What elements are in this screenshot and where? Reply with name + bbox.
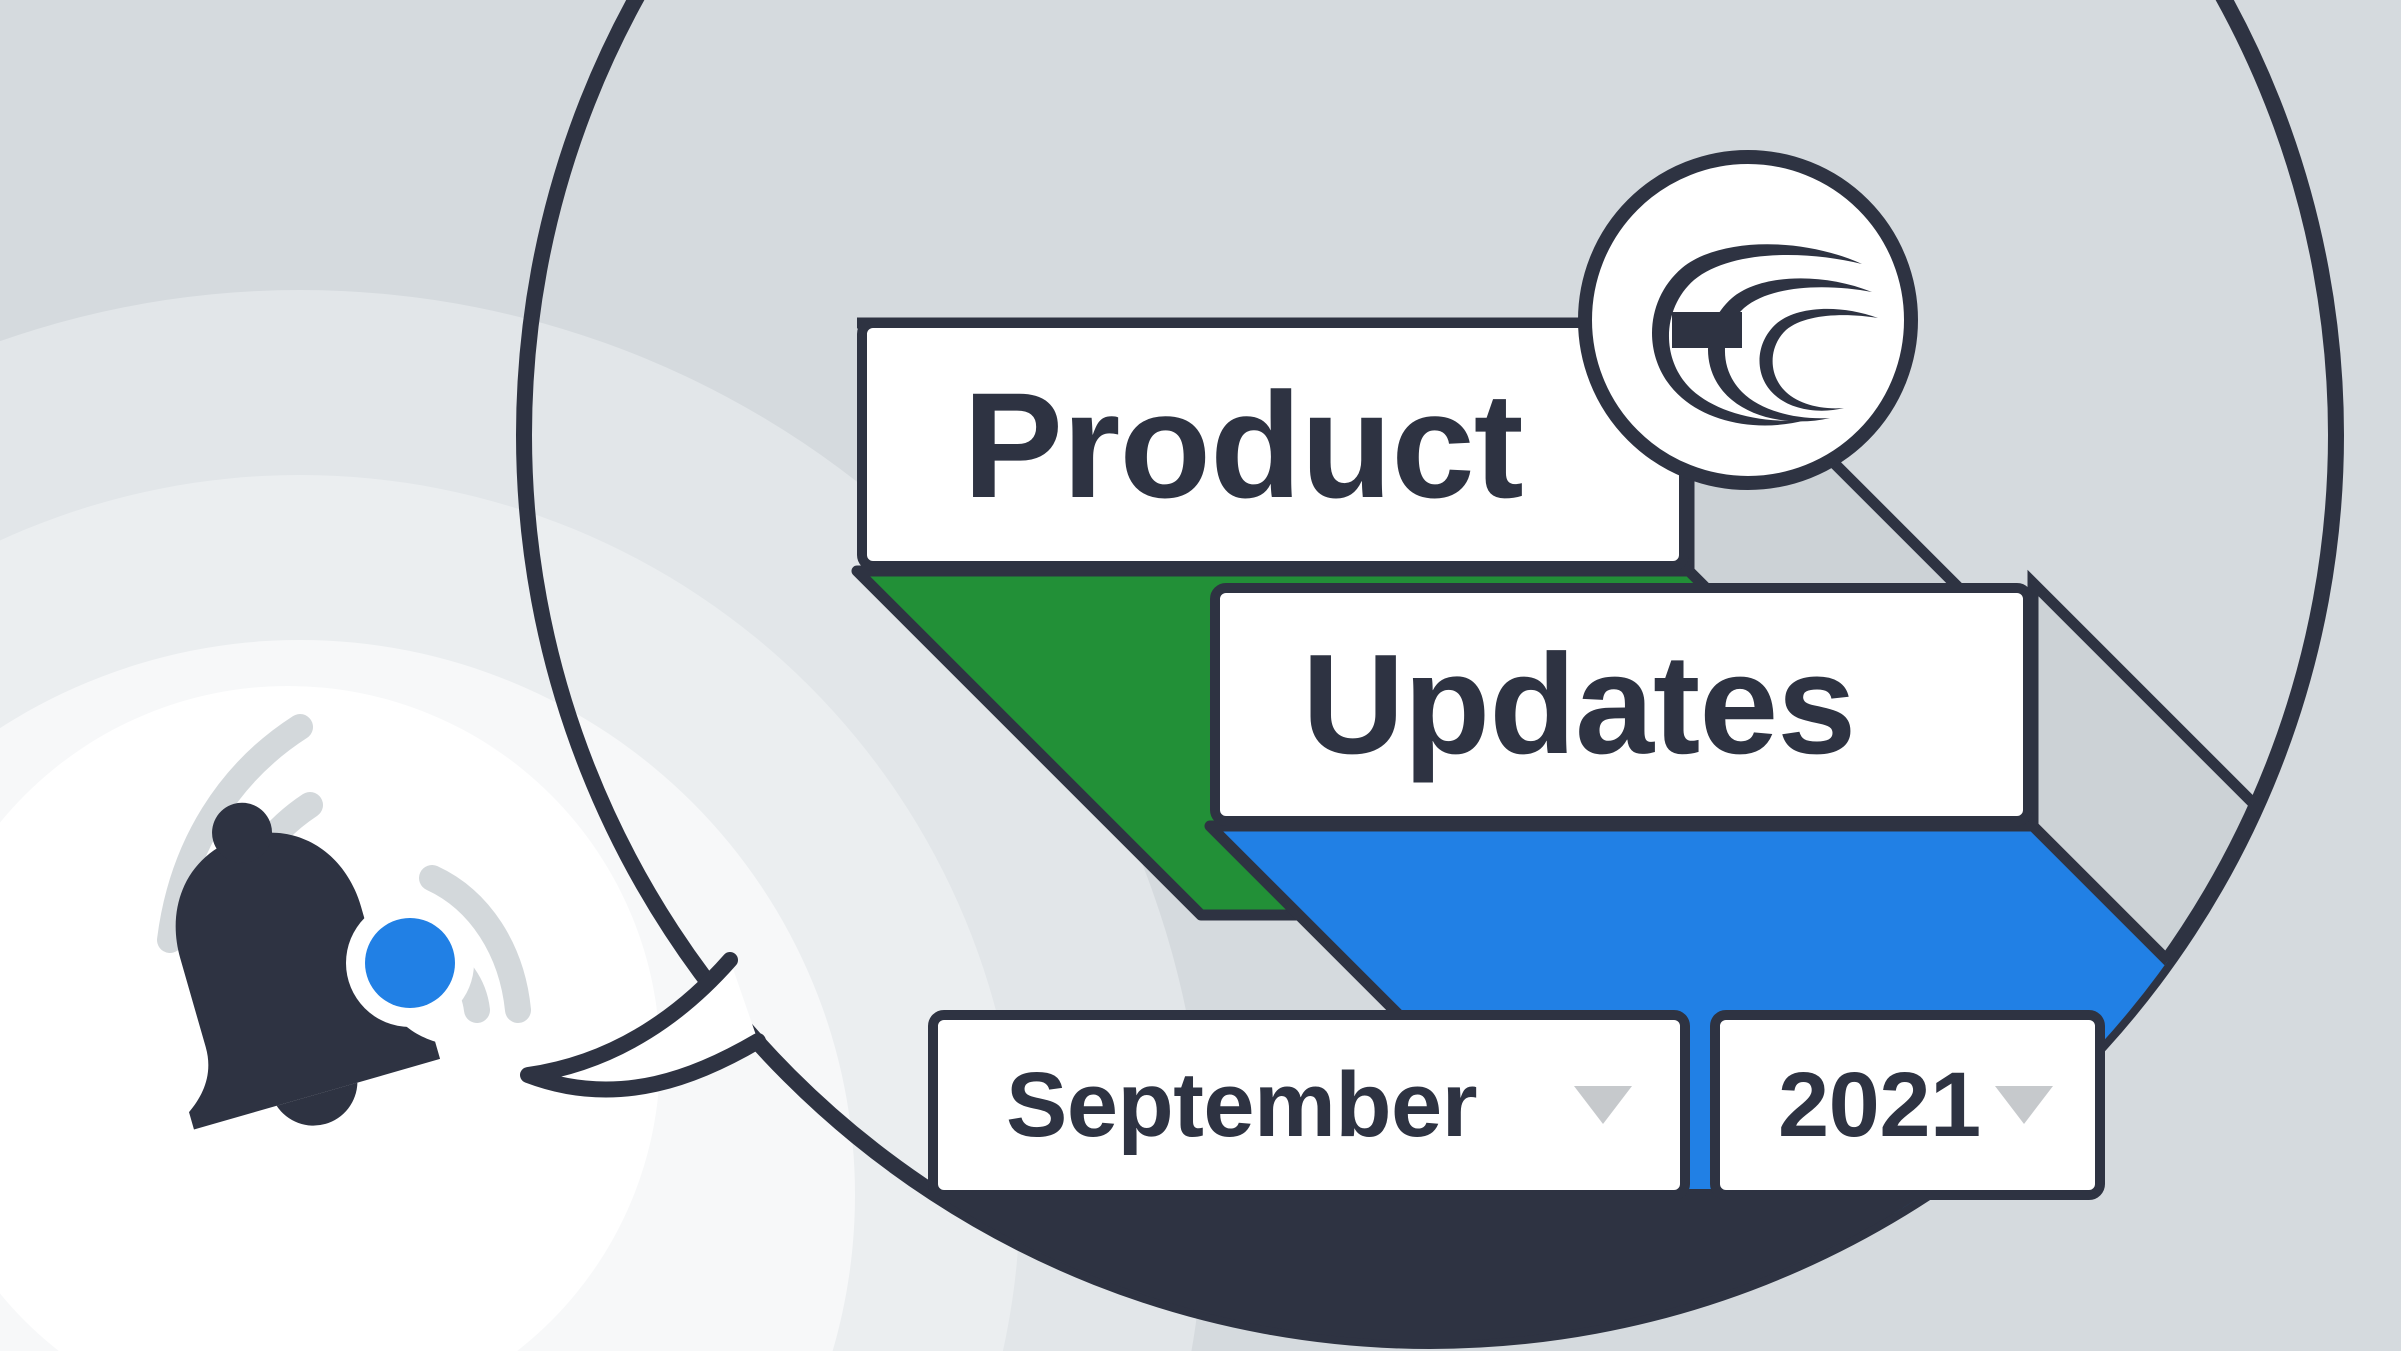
hero-banner: Product Updates September 2021 (0, 0, 2401, 1351)
brand-logo-badge (0, 0, 2401, 1351)
brand-logo-circle (1585, 157, 1911, 483)
